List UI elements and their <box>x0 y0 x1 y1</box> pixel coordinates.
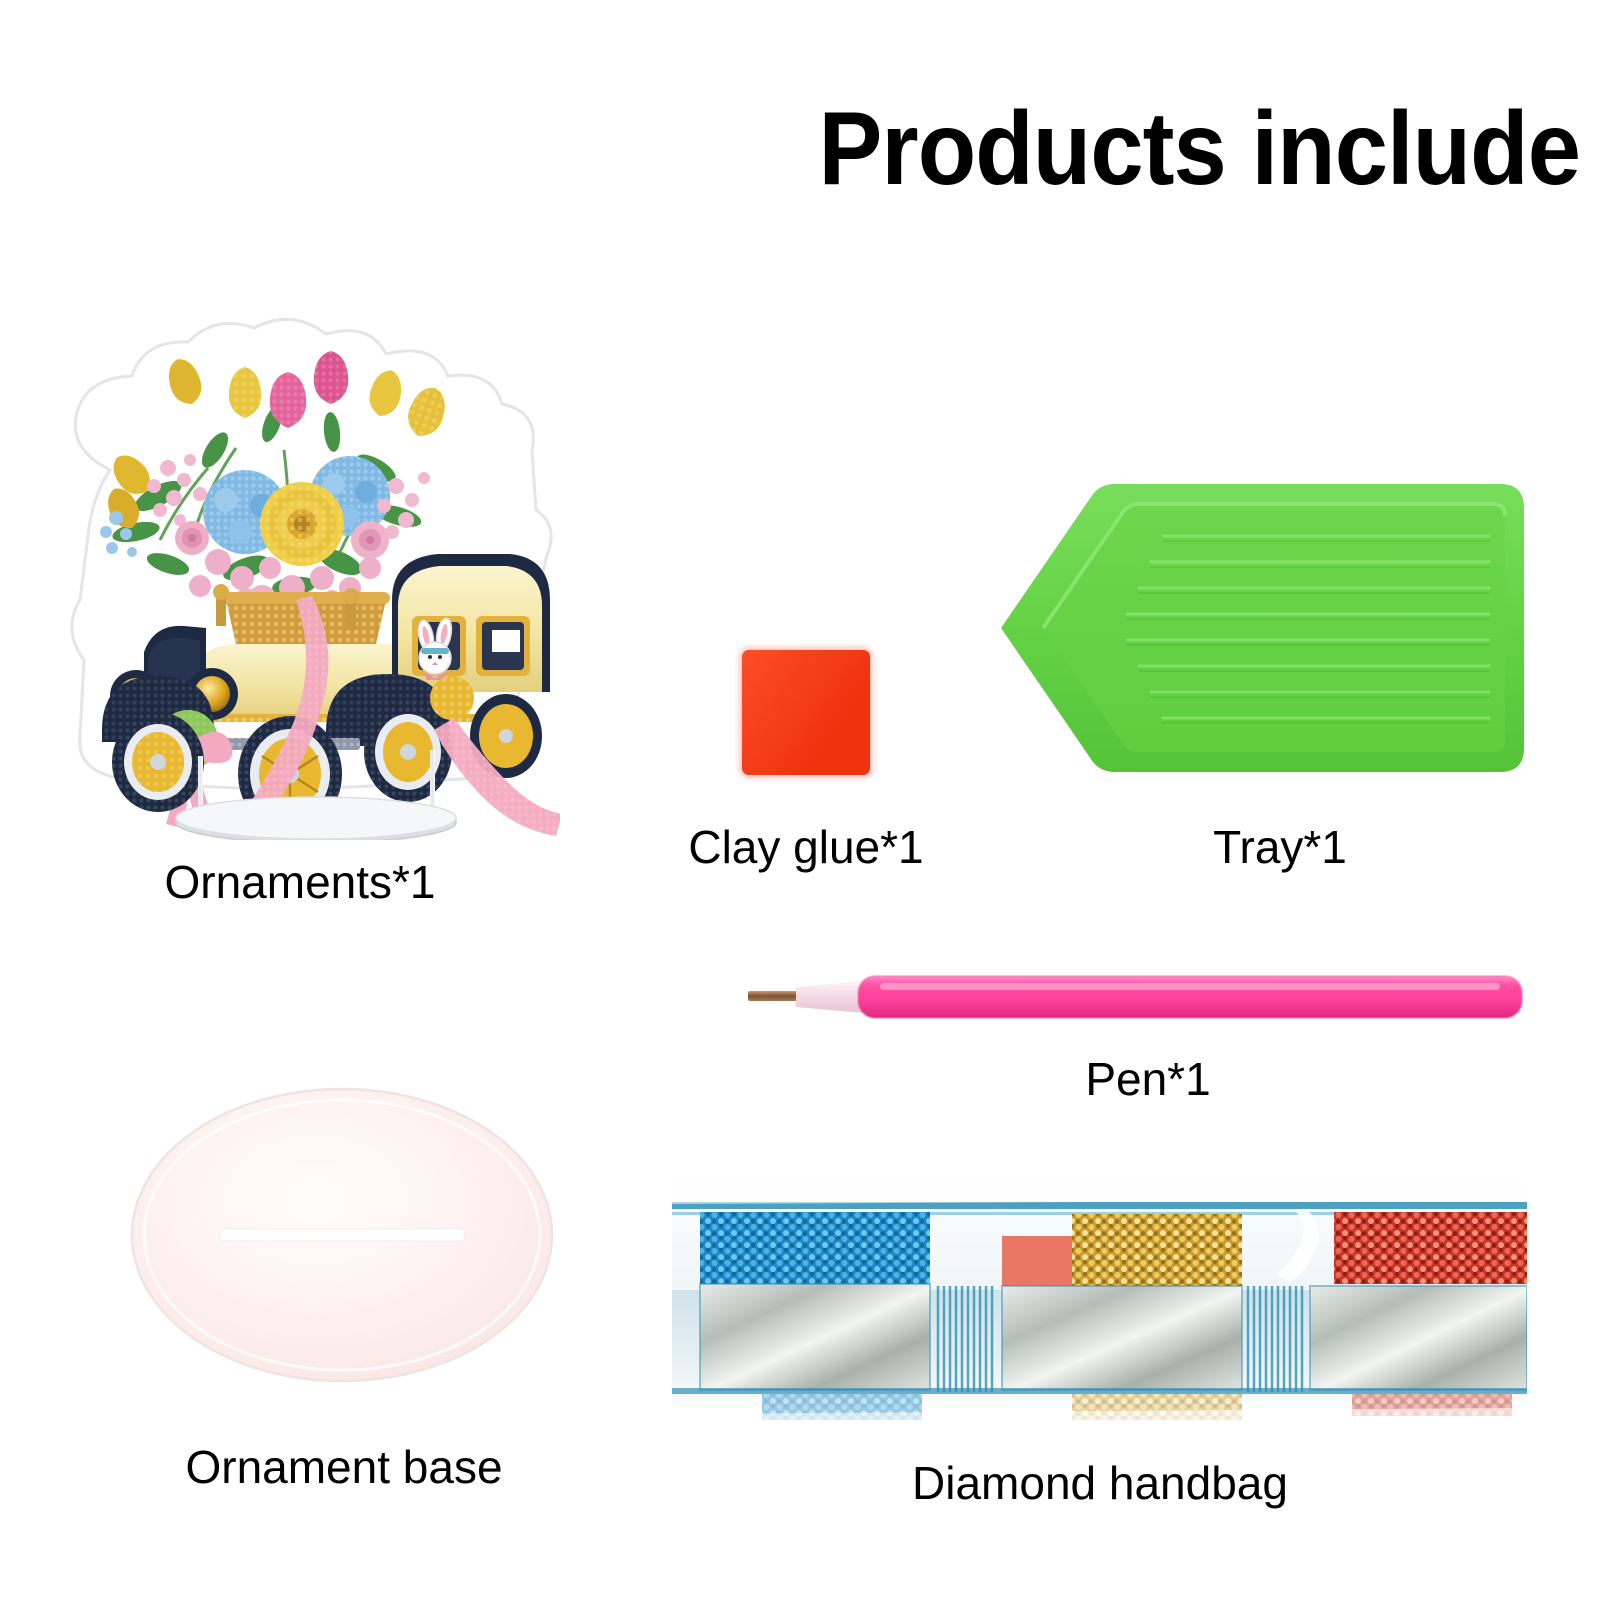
wheel <box>112 712 204 812</box>
acrylic-ornament-vintage-car-icon <box>40 300 560 840</box>
clay-glue-image <box>742 650 870 775</box>
pink-rose <box>351 521 389 559</box>
ornament-base-image <box>128 1085 556 1385</box>
drill-pen-icon <box>740 960 1530 1034</box>
rhinestone-pouch-strip-icon <box>672 1140 1527 1435</box>
rhinestone-pouch-red <box>1310 1212 1527 1390</box>
diamond-handbag-label: Diamond handbag <box>700 1456 1500 1510</box>
rhinestone-pouch-blue <box>700 1212 930 1390</box>
infographic-canvas: Products include <box>0 0 1600 1600</box>
clay-glue-label: Clay glue*1 <box>636 820 976 874</box>
tray-image <box>995 478 1530 778</box>
ornaments-image <box>40 300 560 840</box>
pen-label: Pen*1 <box>978 1052 1318 1106</box>
yellow-rose <box>260 482 344 566</box>
diamond-handbag-image <box>672 1140 1527 1435</box>
oval-stand-base-icon <box>128 1085 556 1385</box>
drill-tray-icon <box>995 478 1530 778</box>
pen-image <box>740 960 1530 1034</box>
ornaments-label: Ornaments*1 <box>40 855 560 909</box>
pink-rose <box>175 521 209 555</box>
ornament-base-label: Ornament base <box>104 1440 584 1494</box>
page-title: Products include <box>761 96 1580 202</box>
tray-label: Tray*1 <box>1110 820 1450 874</box>
wheel <box>364 702 452 802</box>
